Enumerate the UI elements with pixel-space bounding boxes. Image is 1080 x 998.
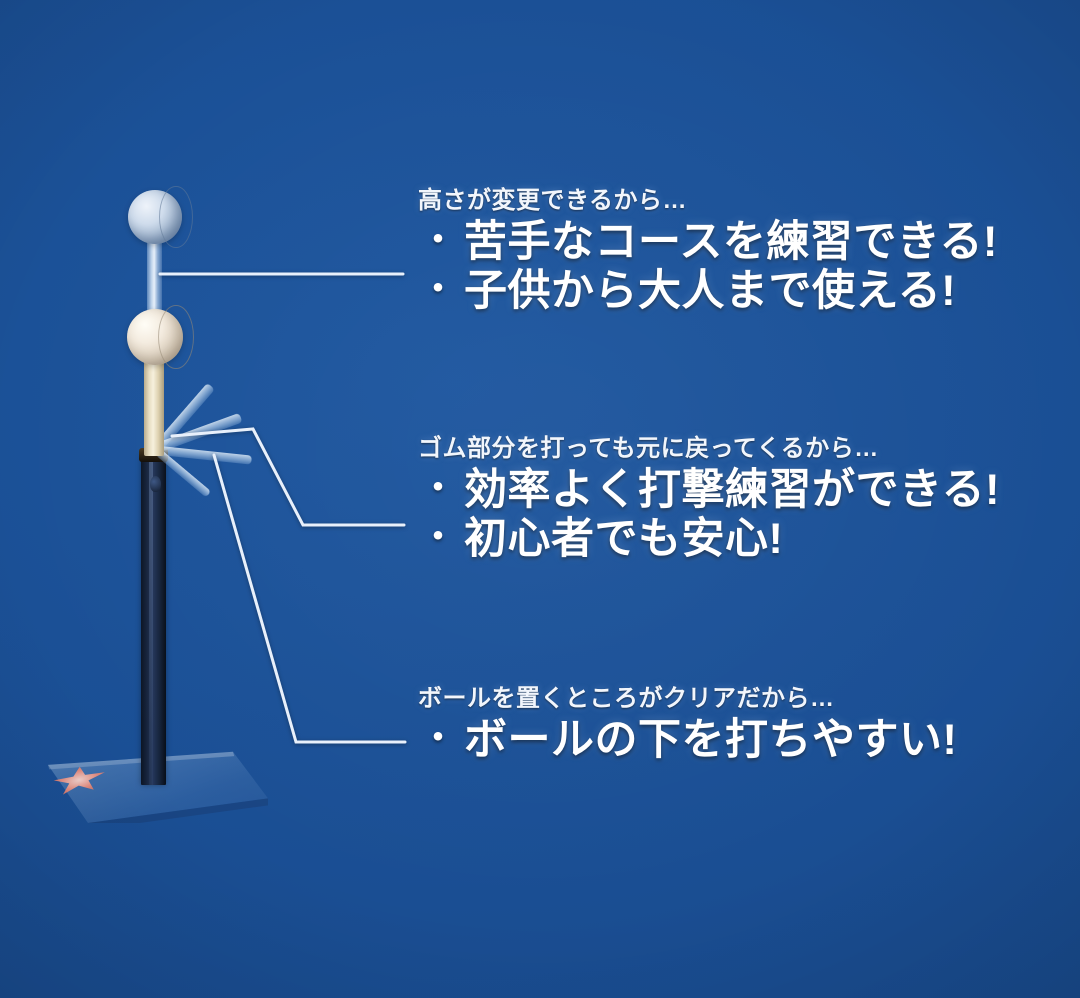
baseball-lower xyxy=(127,309,183,365)
feature-2-bullet-2: ・ 初心者でも安心! xyxy=(418,517,1000,562)
pole-dark xyxy=(141,455,166,785)
bullet-marker-icon: ・ xyxy=(418,269,458,310)
feature-1-bullet-1: ・ 苦手なコースを練習できる! xyxy=(418,220,998,265)
product-batting-tee xyxy=(0,0,430,998)
pole-gloss-highlight xyxy=(149,455,153,785)
feature-3-lead-in: ボールを置くところがクリアだから… xyxy=(418,684,957,714)
feature-1-lead-in: 高さが変更できるから… xyxy=(418,186,998,216)
bullet-marker-icon: ・ xyxy=(418,220,458,261)
feature-block-2: ゴム部分を打っても元に戻ってくるから… ・ 効率よく打撃練習ができる! ・ 初心… xyxy=(418,434,1000,562)
bullet-marker-icon: ・ xyxy=(418,718,458,759)
bullet-marker-icon: ・ xyxy=(418,517,458,558)
feature-1-bullet-1-text: 苦手なコースを練習できる! xyxy=(464,220,998,265)
feature-block-1: 高さが変更できるから… ・ 苦手なコースを練習できる! ・ 子供から大人まで使え… xyxy=(418,186,998,314)
feature-2-bullet-2-text: 初心者でも安心! xyxy=(464,517,783,562)
baseball-seam xyxy=(159,186,192,249)
feature-2-bullet-1-text: 効率よく打撃練習ができる! xyxy=(464,468,1000,513)
promo-image-canvas: 高さが変更できるから… ・ 苦手なコースを練習できる! ・ 子供から大人まで使え… xyxy=(0,0,1080,998)
feature-2-bullet-1: ・ 効率よく打撃練習ができる! xyxy=(418,468,1000,513)
feature-2-lead-in: ゴム部分を打っても元に戻ってくるから… xyxy=(418,434,1000,464)
bullet-marker-icon: ・ xyxy=(418,468,458,509)
feature-1-bullet-2-text: 子供から大人まで使える! xyxy=(464,269,956,314)
baseball-seam xyxy=(158,305,194,370)
feature-block-3: ボールを置くところがクリアだから… ・ ボールの下を打ちやすい! xyxy=(418,684,957,763)
feature-3-bullet-1-text: ボールの下を打ちやすい! xyxy=(464,718,957,763)
feature-1-bullet-2: ・ 子供から大人まで使える! xyxy=(418,269,998,314)
height-adjust-knob xyxy=(150,476,161,492)
feature-3-bullet-1: ・ ボールの下を打ちやすい! xyxy=(418,718,957,763)
baseball-top xyxy=(128,190,182,244)
